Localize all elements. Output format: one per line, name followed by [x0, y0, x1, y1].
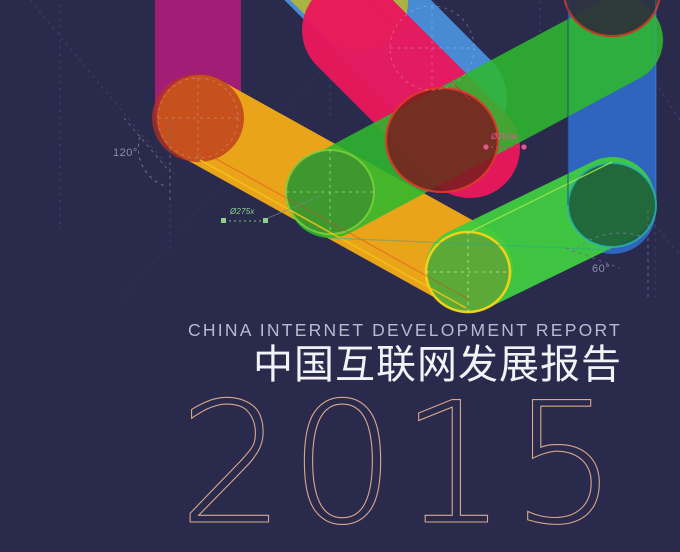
annotation-label-diameter-275: Ø275х — [230, 207, 255, 216]
cap-dark-green-blue-base — [568, 163, 656, 247]
annotation-label-diameter-250: Ø250м — [491, 132, 517, 141]
annotation-label-angle-120: 120° — [113, 147, 138, 159]
cap-green-mid-junction — [286, 150, 374, 234]
report-cover: 120° Ø275х Ø250м 60° CHINA INTERNET DEVE… — [0, 0, 680, 552]
cap-dark-red — [386, 88, 498, 192]
annotation-label-angle-60: 60° — [592, 263, 610, 275]
isometric-ribbon-artwork — [0, 0, 680, 552]
